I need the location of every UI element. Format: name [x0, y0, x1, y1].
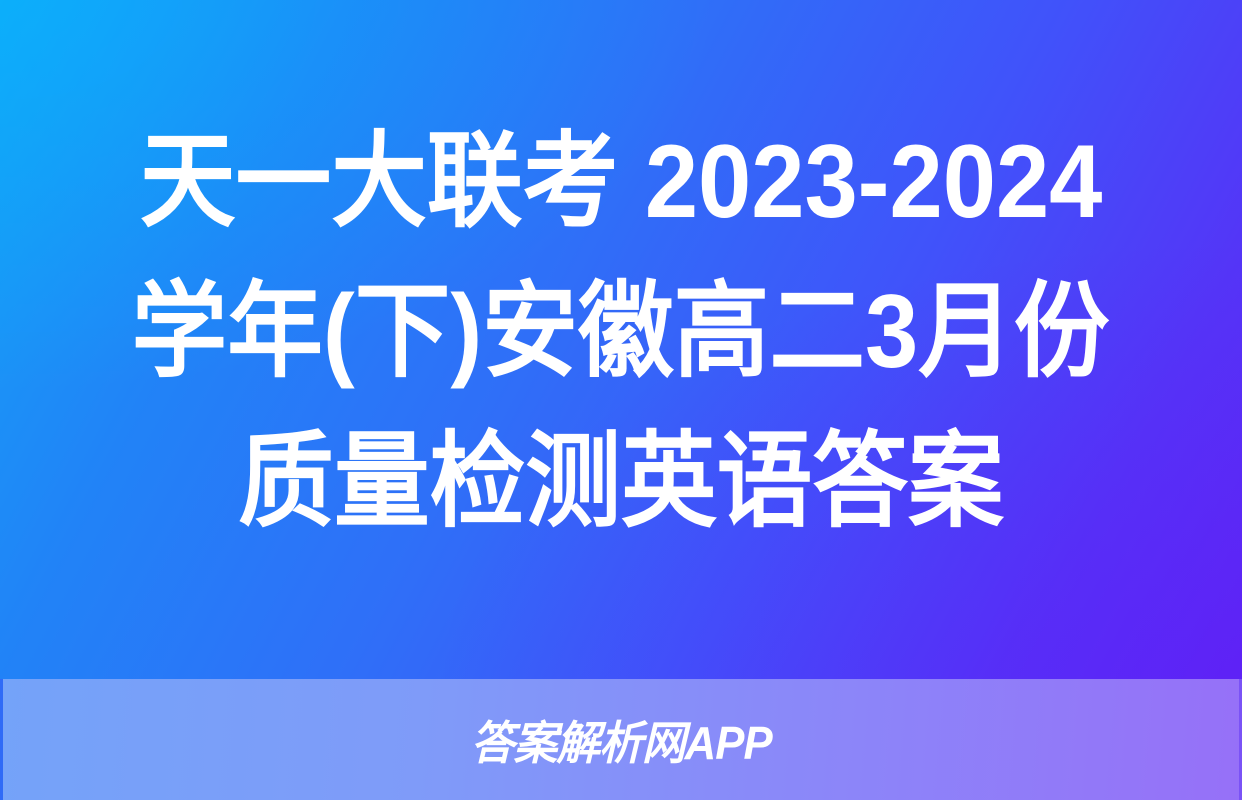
poster-title-line-2: 学年(下)安徽高二3月份 [132, 257, 1110, 407]
poster-title-block: 天一大联考 2023-2024 学年(下)安徽高二3月份 质量检测英语答案 [0, 0, 1242, 679]
poster-title-line-3: 质量检测英语答案 [238, 407, 1003, 557]
footer-brand-band: 答案解析网APP [0, 679, 1242, 800]
poster-canvas: 天一大联考 2023-2024 学年(下)安徽高二3月份 质量检测英语答案 答案… [0, 0, 1242, 800]
footer-left-edge-accent [0, 679, 3, 800]
poster-title-line-1: 天一大联考 2023-2024 [140, 107, 1103, 257]
footer-brand-label: 答案解析网APP [471, 707, 772, 773]
